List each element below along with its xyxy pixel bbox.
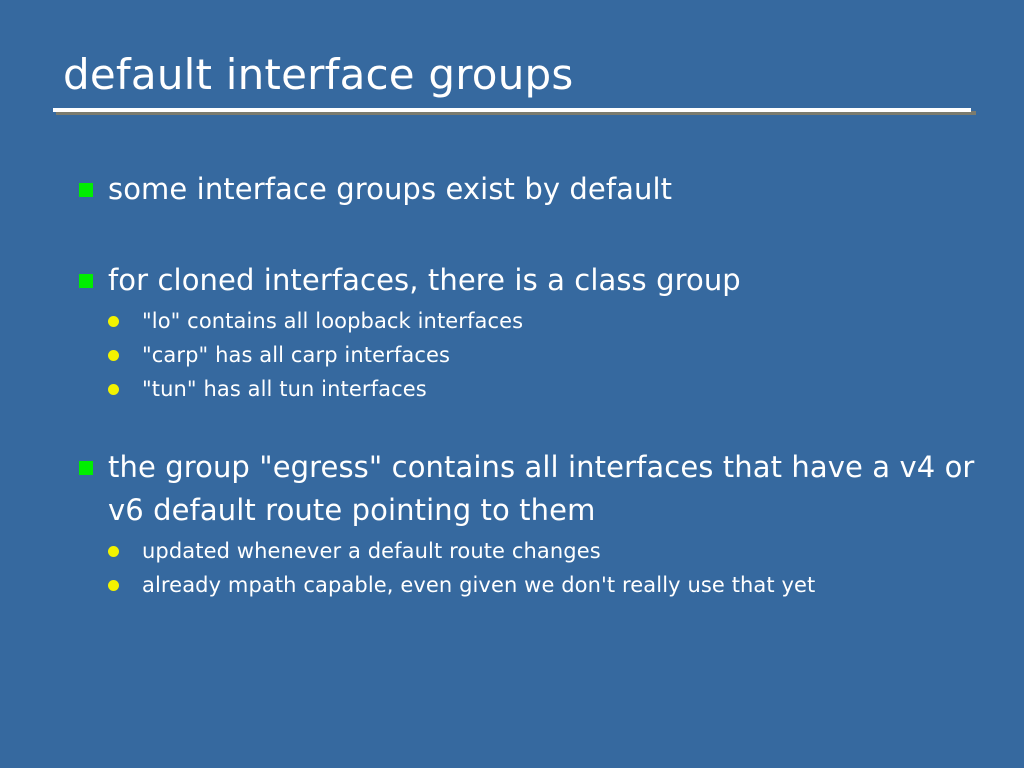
bullet-level2: "tun" has all tun interfaces (72, 372, 1002, 406)
bullet-level2: updated whenever a default route changes (72, 534, 1002, 568)
title-divider (53, 108, 973, 116)
dot-bullet-icon (108, 316, 119, 327)
bullet-sublist: updated whenever a default route changes… (72, 534, 1002, 602)
bullet-level2: "carp" has all carp interfaces (72, 338, 1002, 372)
dot-bullet-icon (108, 546, 119, 557)
bullet-level2-text: already mpath capable, even given we don… (142, 573, 815, 597)
dot-bullet-icon (108, 350, 119, 361)
square-bullet-icon (79, 274, 93, 288)
spacer (72, 406, 1002, 446)
title-divider-line (53, 108, 971, 112)
bullet-level2-text: "carp" has all carp interfaces (142, 343, 450, 367)
bullet-level2: "lo" contains all loopback interfaces (72, 304, 1002, 338)
bullet-level1: for cloned interfaces, there is a class … (72, 259, 1002, 302)
title-block: default interface groups (53, 50, 983, 116)
bullet-level2-text: updated whenever a default route changes (142, 539, 601, 563)
bullet-level1-text: some interface groups exist by default (108, 172, 672, 206)
bullet-level1: the group "egress" contains all interfac… (72, 446, 1002, 532)
bullet-level1: some interface groups exist by default (72, 168, 1002, 211)
presentation-slide: default interface groups some interface … (0, 0, 1024, 768)
bullet-level1-text: the group "egress" contains all interfac… (108, 450, 974, 527)
bullet-level2: already mpath capable, even given we don… (72, 568, 1002, 602)
bullet-sublist: "lo" contains all loopback interfaces "c… (72, 304, 1002, 406)
spacer (72, 211, 1002, 259)
dot-bullet-icon (108, 580, 119, 591)
dot-bullet-icon (108, 384, 119, 395)
page-title: default interface groups (53, 50, 983, 100)
bullet-level1-text: for cloned interfaces, there is a class … (108, 263, 741, 297)
bullet-level2-text: "lo" contains all loopback interfaces (142, 309, 523, 333)
square-bullet-icon (79, 183, 93, 197)
bullet-list: some interface groups exist by default f… (72, 168, 1002, 602)
square-bullet-icon (79, 461, 93, 475)
bullet-level2-text: "tun" has all tun interfaces (142, 377, 427, 401)
